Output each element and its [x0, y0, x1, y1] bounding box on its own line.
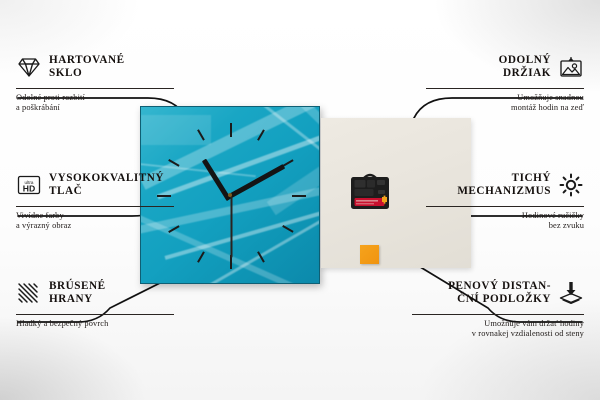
foam-spacer-pad	[360, 245, 379, 264]
feature-title: VYSOKOKVALITNÝ TLAČ	[49, 172, 164, 197]
feature-title: BRÚSENÉ HRANY	[49, 280, 106, 305]
foam-spacer-icon	[558, 280, 584, 306]
feature-header: BRÚSENÉ HRANY	[16, 276, 174, 310]
divider	[16, 88, 174, 89]
feature-silent-mechanism: TICHÝ MECHANIZMUS Hodinové ručičky bez z…	[426, 168, 584, 232]
feature-desc-line2: v rovnakej vzdialenosti od steny	[412, 329, 584, 340]
feature-desc-line1: Hladký a bezpečný povrch	[16, 319, 174, 330]
divider	[426, 88, 584, 89]
clock-tick	[292, 195, 306, 197]
picture-hanger-icon	[558, 54, 584, 80]
feature-desc-line1: Vivídne farby	[16, 211, 174, 222]
feature-header: ultra HD VYSOKOKVALITNÝ TLAČ	[16, 168, 174, 202]
feature-desc-line1: Umožňuje snadnou	[426, 93, 584, 104]
feature-desc-line2: a poškrábání	[16, 103, 174, 114]
feature-high-quality-print: ultra HD VYSOKOKVALITNÝ TLAČ Vivídne far…	[16, 168, 174, 232]
divider	[16, 206, 174, 207]
feature-title: PENOVÝ DISTAN- ČNÍ PODLOŽKY	[448, 280, 551, 305]
quartz-mechanism	[348, 172, 392, 212]
infographic-canvas: HARTOVANÉ SKLO Odolné proti rozbití a po…	[0, 0, 600, 400]
divider	[412, 314, 584, 315]
feature-header: PENOVÝ DISTAN- ČNÍ PODLOŽKY	[412, 276, 584, 310]
feature-desc-line1: Odolné proti rozbití	[16, 93, 174, 104]
gear-icon	[558, 172, 584, 198]
feature-title: HARTOVANÉ SKLO	[49, 54, 125, 79]
feature-tempered-glass: HARTOVANÉ SKLO Odolné proti rozbití a po…	[16, 50, 174, 114]
feature-header: HARTOVANÉ SKLO	[16, 50, 174, 84]
clock-tick	[230, 123, 232, 137]
diamond-icon	[16, 54, 42, 80]
feature-desc-line1: Umožňuje vám držať hodiny	[412, 319, 584, 330]
feature-header: ODOLNÝ DRŽIAK	[426, 50, 584, 84]
feature-desc-line2: montáž hodin na zeď	[426, 103, 584, 114]
clock-second-hand	[231, 197, 233, 258]
feature-title: ODOLNÝ DRŽIAK	[499, 54, 551, 79]
feature-durable-hanger: ODOLNÝ DRŽIAK Umožňuje snadnou montáž ho…	[426, 50, 584, 114]
clock-tick	[282, 225, 293, 232]
svg-text:HD: HD	[23, 183, 35, 193]
feature-desc-line2: bez zvuku	[426, 221, 584, 232]
feature-header: TICHÝ MECHANIZMUS	[426, 168, 584, 202]
feature-desc-line1: Hodinové ručičky	[426, 211, 584, 222]
divider	[16, 314, 174, 315]
feature-foam-spacers: PENOVÝ DISTAN- ČNÍ PODLOŽKY Umožňuje vám…	[412, 276, 584, 340]
clock-center-pivot	[228, 193, 232, 197]
divider	[426, 206, 584, 207]
feature-title: TICHÝ MECHANIZMUS	[457, 172, 551, 197]
feature-desc-line2: a výrazný obraz	[16, 221, 174, 232]
ultra-hd-icon: ultra HD	[16, 172, 42, 198]
clock-tick	[197, 251, 204, 262]
feature-beveled-edges: BRÚSENÉ HRANY Hladký a bezpečný povrch	[16, 276, 174, 329]
beveled-edges-icon	[16, 280, 42, 306]
